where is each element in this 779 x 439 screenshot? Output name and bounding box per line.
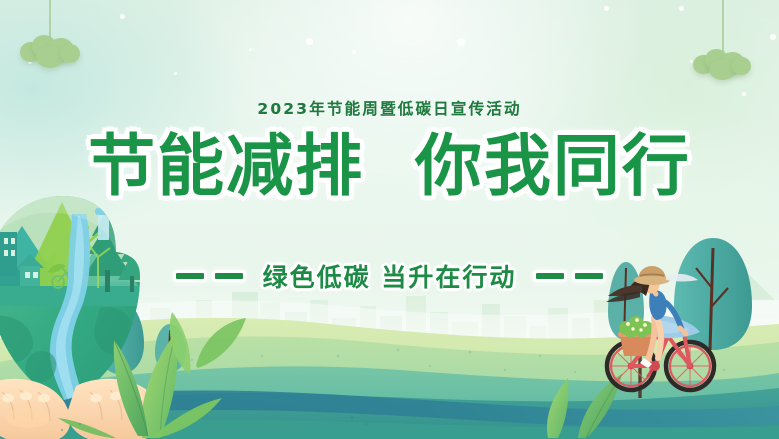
subtitle-text: 绿色低碳 当升在行动 bbox=[263, 258, 517, 294]
ornament-leaf-lobe bbox=[732, 57, 751, 75]
sparkle-dot bbox=[352, 50, 356, 54]
sparkle-dot bbox=[604, 6, 609, 11]
ornament-stem bbox=[49, 0, 51, 38]
subtitle-dash-right-2 bbox=[575, 273, 603, 279]
campaign-eyebrow-text: 2023年节能周暨低碳日宣传活动 bbox=[0, 97, 779, 119]
sparkle-dot bbox=[457, 38, 465, 46]
sparkle-dot bbox=[120, 14, 125, 19]
subtitle-dash-left-2 bbox=[215, 273, 243, 279]
subtitle-dash-left-1 bbox=[176, 273, 204, 279]
sparkle-dot bbox=[174, 72, 177, 75]
sparkle-dot bbox=[306, 38, 313, 45]
sparkle-dot bbox=[679, 6, 684, 11]
subtitle-dash-right-1 bbox=[536, 273, 564, 279]
ornament-leaf-lobe bbox=[60, 44, 80, 63]
hanging-leaf-ornament-right bbox=[692, 0, 754, 94]
sparkle-dot bbox=[770, 34, 776, 40]
ornament-stem bbox=[722, 0, 724, 52]
scene-illustration bbox=[0, 0, 779, 439]
page-title: 节能减排 你我同行 bbox=[0, 131, 779, 202]
hanging-leaf-ornament-left bbox=[18, 0, 82, 76]
sparkle-dot bbox=[249, 48, 252, 51]
eco-campaign-poster: 2023年节能周暨低碳日宣传活动 节能减排 你我同行 绿色低碳 当升在行动 bbox=[0, 0, 779, 439]
subtitle-row: 绿色低碳 当升在行动 bbox=[0, 258, 779, 294]
